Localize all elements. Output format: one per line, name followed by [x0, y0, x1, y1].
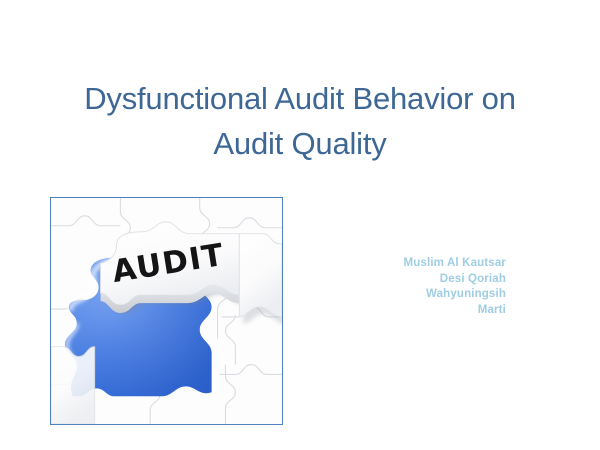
page-title: Dysfunctional Audit Behavior on Audit Qu…	[40, 76, 560, 166]
title-line-1: Dysfunctional Audit Behavior on	[40, 76, 560, 121]
author-name-3: Wahyuningsih	[320, 287, 506, 303]
author-name-4: Marti	[320, 303, 506, 319]
author-list: Muslim Al Kautsar Desi Qoriah Wahyunings…	[320, 256, 506, 318]
author-name-1: Muslim Al Kautsar	[320, 256, 506, 272]
title-line-2: Audit Quality	[40, 121, 560, 166]
author-name-2: Desi Qoriah	[320, 272, 506, 288]
jigsaw-puzzle-audit-image: AUDIT	[50, 197, 283, 425]
slide-canvas: Dysfunctional Audit Behavior on Audit Qu…	[0, 0, 600, 450]
